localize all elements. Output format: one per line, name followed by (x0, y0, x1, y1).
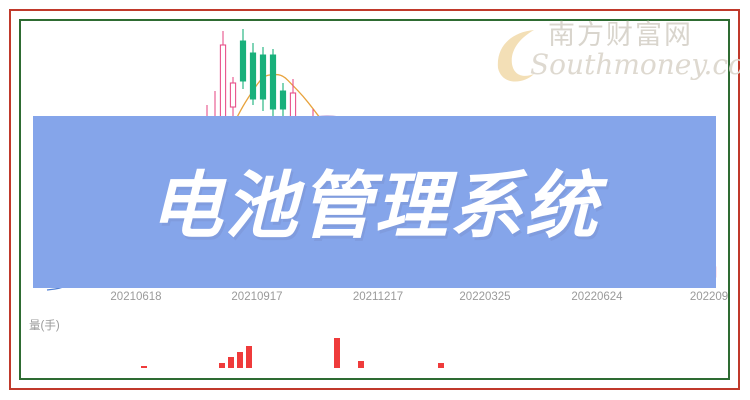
x-tick-label: 20211217 (353, 291, 403, 303)
candle-body (230, 83, 235, 107)
volume-bar (219, 363, 225, 368)
x-tick-label: 20210917 (231, 291, 282, 303)
volume-pane: 量(手) (21, 317, 728, 378)
volume-bar (246, 346, 252, 368)
candle-body (270, 55, 275, 109)
volume-bar (237, 352, 243, 368)
title-highlight-band (33, 116, 716, 288)
volume-bar (228, 357, 234, 368)
candle-body (260, 55, 265, 99)
candle-body (250, 53, 255, 99)
x-axis-labels: 2021061820210917202112172022032520220624… (21, 291, 728, 313)
x-tick-label: 20220624 (571, 291, 622, 303)
volume-bars-svg (21, 317, 728, 378)
stock-chart: 电池管理系统 202106182021091720211217202203252… (21, 21, 728, 378)
volume-bar (438, 363, 444, 368)
candle-body (280, 91, 285, 109)
volume-bar-series (141, 338, 444, 368)
volume-bar (334, 338, 340, 368)
x-tick-label: 20220325 (459, 291, 510, 303)
screenshot-root: 电池管理系统 202106182021091720211217202203252… (0, 0, 750, 400)
candle-body (240, 41, 245, 81)
volume-bar (358, 361, 364, 368)
volume-bar (141, 366, 147, 368)
x-tick-label: 20210618 (110, 291, 161, 303)
x-tick-label: 202209 (690, 291, 728, 303)
